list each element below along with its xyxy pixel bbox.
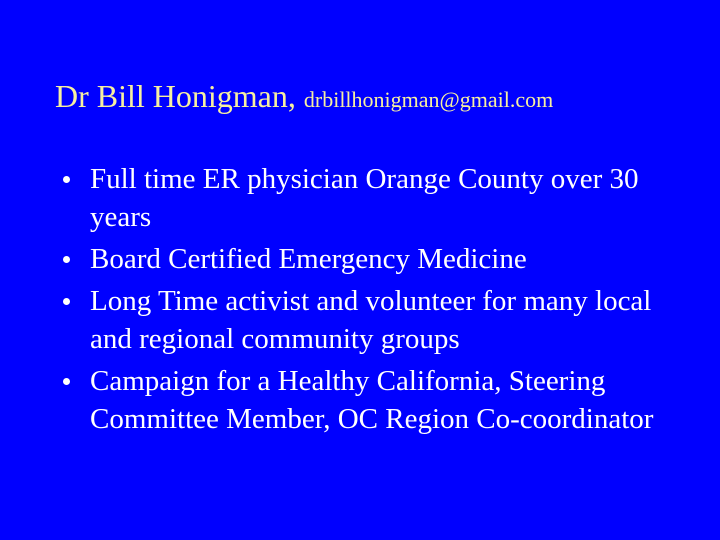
list-item: Full time ER physician Orange County ove… [56, 160, 666, 236]
presenter-name: Dr Bill Honigman, [55, 78, 304, 114]
bullet-dot-icon [63, 378, 70, 385]
list-item: Board Certified Emergency Medicine [56, 240, 666, 278]
list-item: Campaign for a Healthy California, Steer… [56, 362, 666, 438]
bullet-dot-icon [63, 256, 70, 263]
list-item-label: Board Certified Emergency Medicine [90, 240, 666, 278]
list-item-label: Campaign for a Healthy California, Steer… [90, 362, 666, 438]
bullet-dot-icon [63, 176, 70, 183]
bullet-dot-icon [63, 298, 70, 305]
list-item-label: Long Time activist and volunteer for man… [90, 282, 666, 358]
presenter-email: drbillhonigman@gmail.com [304, 87, 553, 112]
slide-bullet-list: Full time ER physician Orange County ove… [56, 160, 666, 438]
slide-title: Dr Bill Honigman, drbillhonigman@gmail.c… [55, 78, 675, 118]
list-item-label: Full time ER physician Orange County ove… [90, 160, 666, 236]
presentation-slide: Dr Bill Honigman, drbillhonigman@gmail.c… [0, 0, 720, 540]
list-item: Long Time activist and volunteer for man… [56, 282, 666, 358]
